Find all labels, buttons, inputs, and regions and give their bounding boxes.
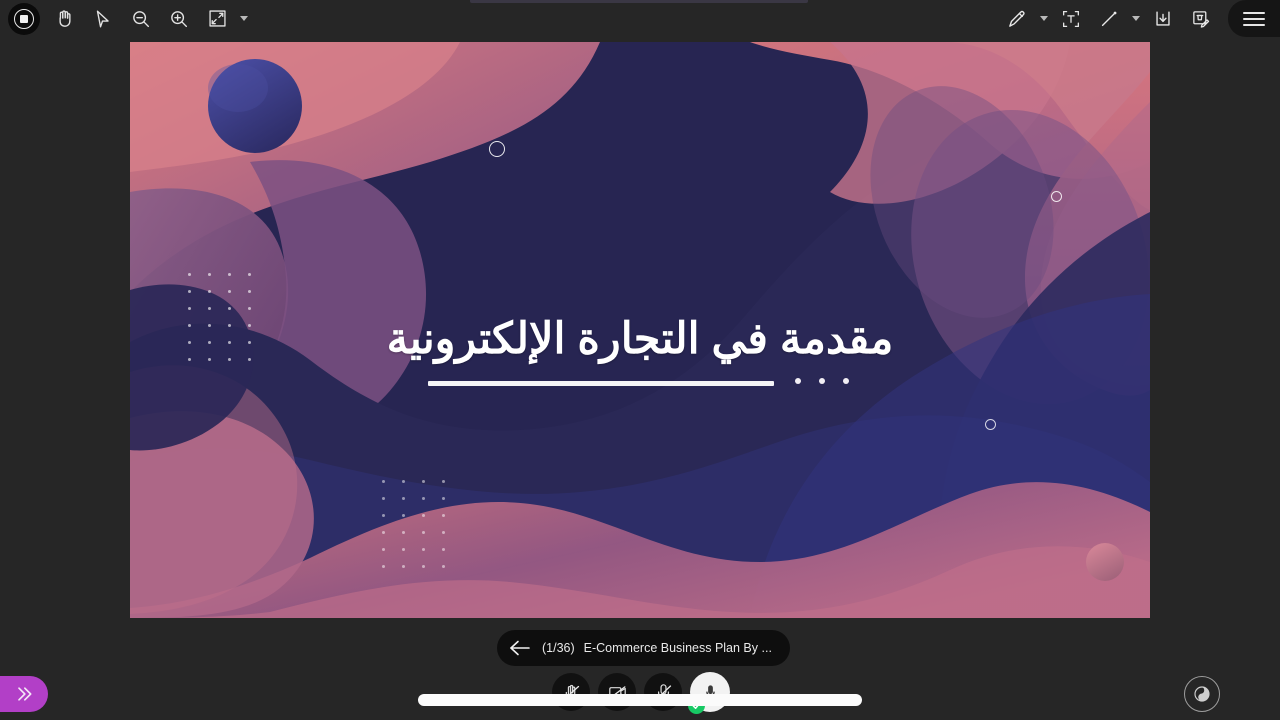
decorative-ring-2	[1051, 191, 1062, 202]
decorative-dot-grid-center	[382, 480, 462, 582]
zoom-in-button[interactable]	[160, 0, 198, 37]
cursor-arrow-icon	[92, 8, 114, 30]
line-tool-button[interactable]	[1090, 0, 1128, 37]
line-icon	[1098, 8, 1120, 30]
fit-to-screen-button[interactable]	[198, 0, 236, 37]
top-accent-strip	[470, 0, 808, 3]
decorative-ring-1	[489, 141, 505, 157]
timer-icon	[1192, 684, 1212, 704]
menu-button[interactable]	[1228, 0, 1280, 37]
select-tool-button[interactable]	[84, 0, 122, 37]
playback-progress-bar[interactable]	[418, 694, 862, 706]
page-counter: (1/36)	[542, 641, 575, 655]
decorative-ring-3	[985, 419, 996, 430]
arrow-left-icon	[508, 639, 532, 657]
decorative-dot-grid-left	[188, 273, 268, 375]
pen-tool-button[interactable]	[998, 0, 1036, 37]
erase-page-icon	[1190, 8, 1212, 30]
text-box-button[interactable]	[1052, 0, 1090, 37]
presenter-avatar[interactable]	[690, 672, 730, 712]
page-indicator[interactable]: (1/36) E-Commerce Business Plan By ...	[497, 630, 790, 666]
stop-record-icon	[14, 9, 34, 29]
toolbar-left-group	[0, 0, 252, 37]
sidebar-expand-button[interactable]	[0, 676, 48, 712]
zoom-out-button[interactable]	[122, 0, 160, 37]
text-box-icon	[1060, 8, 1082, 30]
pen-options-caret[interactable]	[1036, 0, 1052, 37]
erase-annotations-button[interactable]	[1182, 0, 1220, 37]
download-icon	[1152, 8, 1174, 30]
chevron-down-icon	[1132, 16, 1140, 21]
slide-canvas[interactable]: مقدمة في التجارة الإلكترونية	[130, 42, 1150, 618]
deck-title: E-Commerce Business Plan By ...	[584, 641, 772, 655]
hamburger-icon	[1243, 8, 1265, 30]
call-controls-bar	[552, 672, 730, 712]
line-options-caret[interactable]	[1128, 0, 1144, 37]
pan-tool-button[interactable]	[46, 0, 84, 37]
title-accent-dots	[795, 378, 849, 384]
hand-icon	[54, 8, 76, 30]
title-divider-rule	[428, 381, 774, 386]
slide-title: مقدمة في التجارة الإلكترونية	[130, 314, 1150, 364]
chevron-down-icon	[240, 16, 248, 21]
fit-screen-icon	[207, 8, 228, 29]
timer-button[interactable]	[1184, 676, 1220, 712]
pen-icon	[1006, 8, 1028, 30]
previous-slide-button[interactable]	[507, 635, 533, 661]
fit-options-caret[interactable]	[236, 0, 252, 37]
download-button[interactable]	[1144, 0, 1182, 37]
magnifier-plus-icon	[168, 8, 190, 30]
toolbar-right-group	[998, 0, 1280, 37]
stop-record-button[interactable]	[8, 3, 40, 35]
double-chevron-right-icon	[14, 684, 34, 704]
top-toolbar	[0, 0, 1280, 37]
chevron-down-icon	[1040, 16, 1048, 21]
magnifier-minus-icon	[130, 8, 152, 30]
